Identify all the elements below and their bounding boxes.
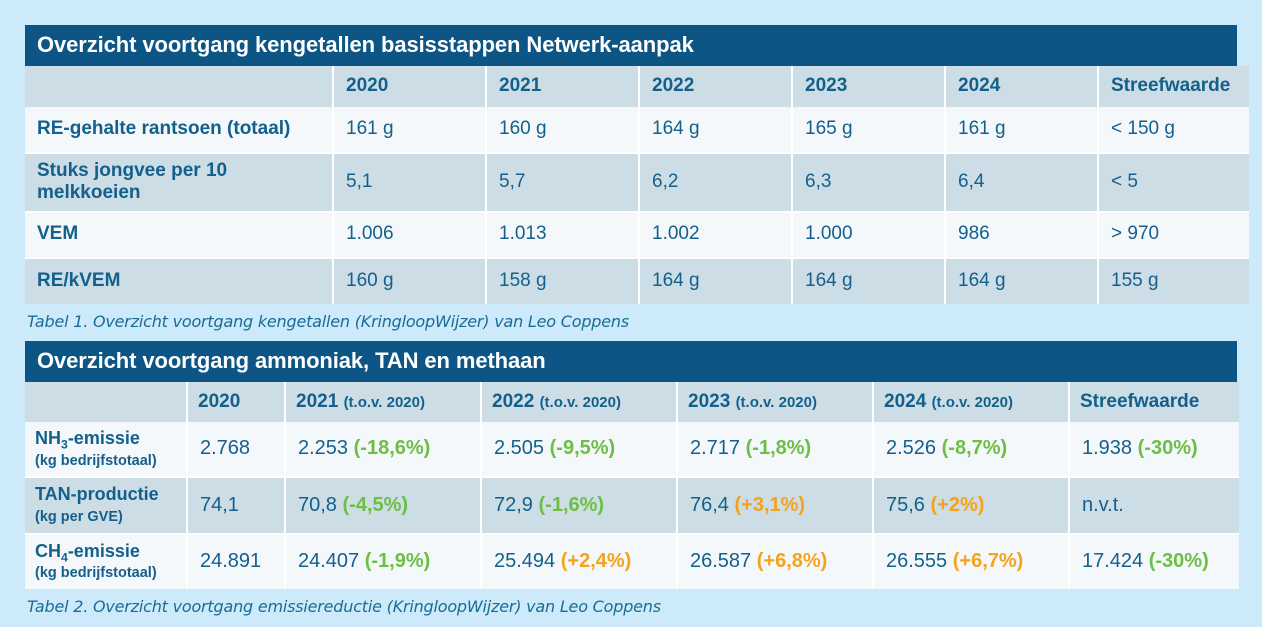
cell-delta: (-18,6%) [354, 437, 431, 459]
cell-value: 2.526 [886, 437, 936, 459]
table-2-row-label: CH4-emissie (kg bedrijfstotaal) [25, 534, 187, 589]
table-1-col-header-2024: 2024 [945, 66, 1098, 107]
table-1-cell: 161 g [945, 107, 1098, 153]
table-2-cell: 2.505 (-9,5%) [481, 422, 677, 477]
table-1-col-header-2023: 2023 [792, 66, 945, 107]
table-2-head: 2020 2021 (t.o.v. 2020) 2022 (t.o.v. 202… [25, 382, 1239, 422]
table-1-cell: 6,3 [792, 153, 945, 212]
table-1-col-header-2022: 2022 [639, 66, 792, 107]
table-row: NH3-emissie (kg bedrijfstotaal) 2.768 2.… [25, 422, 1239, 477]
table-2-col-header-blank [25, 382, 187, 422]
page-root: Overzicht voortgang kengetallen basissta… [0, 0, 1262, 627]
table-1-cell: 164 g [792, 258, 945, 304]
table-2-row-unit: (kg per GVE) [35, 509, 176, 526]
cell-value: 25.494 [494, 550, 555, 572]
table-2-row-label-subscript: 3 [61, 438, 68, 452]
table-2-cell: 24.891 [187, 534, 285, 589]
table-2: 2020 2021 (t.o.v. 2020) 2022 (t.o.v. 202… [25, 382, 1239, 589]
table-1-col-header-2020: 2020 [333, 66, 486, 107]
cell-value: 2.253 [298, 437, 348, 459]
cell-value: 74,1 [200, 494, 239, 516]
table-2-cell: 2.253 (-18,6%) [285, 422, 481, 477]
cell-delta: (-1,8%) [746, 437, 812, 459]
cell-value: 26.555 [886, 550, 947, 572]
cell-delta: (-1,9%) [365, 550, 431, 572]
table-1-cell: 1.006 [333, 212, 486, 258]
table-2-header-row: 2020 2021 (t.o.v. 2020) 2022 (t.o.v. 202… [25, 382, 1239, 422]
table-2-cell: 2.717 (-1,8%) [677, 422, 873, 477]
table-1-cell: 161 g [333, 107, 486, 153]
table-1-col-header-blank [25, 66, 333, 107]
table-2-cell: 72,9 (-1,6%) [481, 477, 677, 533]
table-1-row-label: RE/kVEM [25, 258, 333, 304]
cell-value: 76,4 [690, 494, 729, 516]
table-2-cell: 74,1 [187, 477, 285, 533]
table-1-cell: 1.000 [792, 212, 945, 258]
cell-value: 70,8 [298, 494, 337, 516]
cell-delta: (-9,5%) [550, 437, 616, 459]
table-1-block: Overzicht voortgang kengetallen basissta… [25, 25, 1237, 331]
table-2-cell: 75,6 (+2%) [873, 477, 1069, 533]
table-2-body: NH3-emissie (kg bedrijfstotaal) 2.768 2.… [25, 422, 1239, 589]
table-1-cell: 6,2 [639, 153, 792, 212]
table-1-head: 2020 2021 2022 2023 2024 Streefwaarde [25, 66, 1249, 107]
cell-delta: (-4,5%) [343, 494, 409, 516]
table-2-row-label-main: TAN-productie [35, 484, 159, 504]
cell-value: 26.587 [690, 550, 751, 572]
table-2-col-header-2022: 2022 (t.o.v. 2020) [481, 382, 677, 422]
table-2-cell: 25.494 (+2,4%) [481, 534, 677, 589]
table-2-col-header-2021: 2021 (t.o.v. 2020) [285, 382, 481, 422]
table-1-cell: 165 g [792, 107, 945, 153]
table-2-row-unit: (kg bedrijfstotaal) [35, 565, 176, 582]
cell-value: 2.717 [690, 437, 740, 459]
table-1-col-header-2021: 2021 [486, 66, 639, 107]
table-2-row-label: NH3-emissie (kg bedrijfstotaal) [25, 422, 187, 477]
table-2-header-note: (t.o.v. 2020) [932, 394, 1013, 411]
table-2-header-year: Streefwaarde [1080, 391, 1199, 412]
table-1-cell: 1.013 [486, 212, 639, 258]
cell-delta: (+2%) [931, 494, 985, 516]
table-2-cell: 26.587 (+6,8%) [677, 534, 873, 589]
cell-value: 24.407 [298, 550, 359, 572]
section-spacer [25, 331, 1237, 341]
table-row: VEM 1.006 1.013 1.002 1.000 986 > 970 [25, 212, 1249, 258]
table-2-header-year: 2024 [884, 391, 926, 412]
table-2-col-header-2024: 2024 (t.o.v. 2020) [873, 382, 1069, 422]
cell-delta: (-30%) [1138, 437, 1198, 459]
table-1-cell: 160 g [486, 107, 639, 153]
table-2-cell: 24.407 (-1,9%) [285, 534, 481, 589]
table-2-row-unit: (kg bedrijfstotaal) [35, 453, 176, 470]
table-1-cell: 155 g [1098, 258, 1249, 304]
cell-delta: (-1,6%) [539, 494, 605, 516]
table-2-block: Overzicht voortgang ammoniak, TAN en met… [25, 341, 1237, 616]
table-1-col-header-streefwaarde: Streefwaarde [1098, 66, 1249, 107]
table-row: Stuks jongvee per 10 melkkoeien 5,1 5,7 … [25, 153, 1249, 212]
table-2-cell: 2.526 (-8,7%) [873, 422, 1069, 477]
table-1-cell: 164 g [945, 258, 1098, 304]
table-2-header-note: (t.o.v. 2020) [736, 394, 817, 411]
table-2-col-header-2023: 2023 (t.o.v. 2020) [677, 382, 873, 422]
table-2-header-year: 2020 [198, 391, 240, 412]
table-1-row-label: VEM [25, 212, 333, 258]
table-1-cell: 6,4 [945, 153, 1098, 212]
table-1-cell: 5,1 [333, 153, 486, 212]
table-2-cell: 1.938 (-30%) [1069, 422, 1239, 477]
table-1-row-label: RE-gehalte rantsoen (totaal) [25, 107, 333, 153]
table-2-title: Overzicht voortgang ammoniak, TAN en met… [25, 341, 1237, 382]
table-1-cell: < 5 [1098, 153, 1249, 212]
table-2-row-label-subscript: 4 [61, 550, 68, 564]
table-2-header-year: 2021 [296, 391, 338, 412]
cell-delta: (+3,1%) [735, 494, 806, 516]
cell-value: n.v.t. [1082, 494, 1124, 516]
table-2-header-note: (t.o.v. 2020) [540, 394, 621, 411]
table-1-body: RE-gehalte rantsoen (totaal) 161 g 160 g… [25, 107, 1249, 304]
cell-delta: (+2,4%) [561, 550, 632, 572]
table-1-caption: Tabel 1. Overzicht voortgang kengetallen… [25, 304, 1237, 331]
table-2-row-label-rest: -emissie [68, 428, 140, 448]
table-2-cell: 26.555 (+6,7%) [873, 534, 1069, 589]
cell-value: 24.891 [200, 550, 261, 572]
cell-value: 1.938 [1082, 437, 1132, 459]
table-1-cell: 5,7 [486, 153, 639, 212]
table-1-cell: < 150 g [1098, 107, 1249, 153]
table-2-row-label-main: NH [35, 428, 61, 448]
table-2-header-year: 2022 [492, 391, 534, 412]
table-1-title: Overzicht voortgang kengetallen basissta… [25, 25, 1237, 66]
table-1-cell: 160 g [333, 258, 486, 304]
table-2-row-label-rest: -emissie [68, 541, 140, 561]
table-1-cell: > 970 [1098, 212, 1249, 258]
table-1: 2020 2021 2022 2023 2024 Streefwaarde RE… [25, 66, 1249, 304]
cell-value: 72,9 [494, 494, 533, 516]
table-1-header-row: 2020 2021 2022 2023 2024 Streefwaarde [25, 66, 1249, 107]
table-1-cell: 164 g [639, 258, 792, 304]
cell-value: 2.505 [494, 437, 544, 459]
table-2-row-label-main: CH [35, 541, 61, 561]
cell-delta: (+6,7%) [953, 550, 1024, 572]
table-1-cell: 164 g [639, 107, 792, 153]
table-2-col-header-2020: 2020 [187, 382, 285, 422]
cell-delta: (-8,7%) [942, 437, 1008, 459]
cell-delta: (-30%) [1149, 550, 1209, 572]
table-row: CH4-emissie (kg bedrijfstotaal) 24.891 2… [25, 534, 1239, 589]
cell-delta: (+6,8%) [757, 550, 828, 572]
table-1-cell: 158 g [486, 258, 639, 304]
table-2-cell: 76,4 (+3,1%) [677, 477, 873, 533]
table-1-cell: 1.002 [639, 212, 792, 258]
table-2-header-year: 2023 [688, 391, 730, 412]
table-2-cell: 70,8 (-4,5%) [285, 477, 481, 533]
cell-value: 17.424 [1082, 550, 1143, 572]
table-row: RE-gehalte rantsoen (totaal) 161 g 160 g… [25, 107, 1249, 153]
table-2-cell: 17.424 (-30%) [1069, 534, 1239, 589]
table-2-cell: n.v.t. [1069, 477, 1239, 533]
table-2-cell: 2.768 [187, 422, 285, 477]
cell-value: 2.768 [200, 437, 250, 459]
table-2-col-header-streefwaarde: Streefwaarde [1069, 382, 1239, 422]
table-row: RE/kVEM 160 g 158 g 164 g 164 g 164 g 15… [25, 258, 1249, 304]
table-1-cell: 986 [945, 212, 1098, 258]
table-2-caption: Tabel 2. Overzicht voortgang emissieredu… [25, 589, 1237, 616]
table-2-header-note: (t.o.v. 2020) [344, 394, 425, 411]
cell-value: 75,6 [886, 494, 925, 516]
table-row: TAN-productie (kg per GVE) 74,1 70,8 (-4… [25, 477, 1239, 533]
table-2-row-label: TAN-productie (kg per GVE) [25, 477, 187, 533]
table-1-row-label: Stuks jongvee per 10 melkkoeien [25, 153, 333, 212]
